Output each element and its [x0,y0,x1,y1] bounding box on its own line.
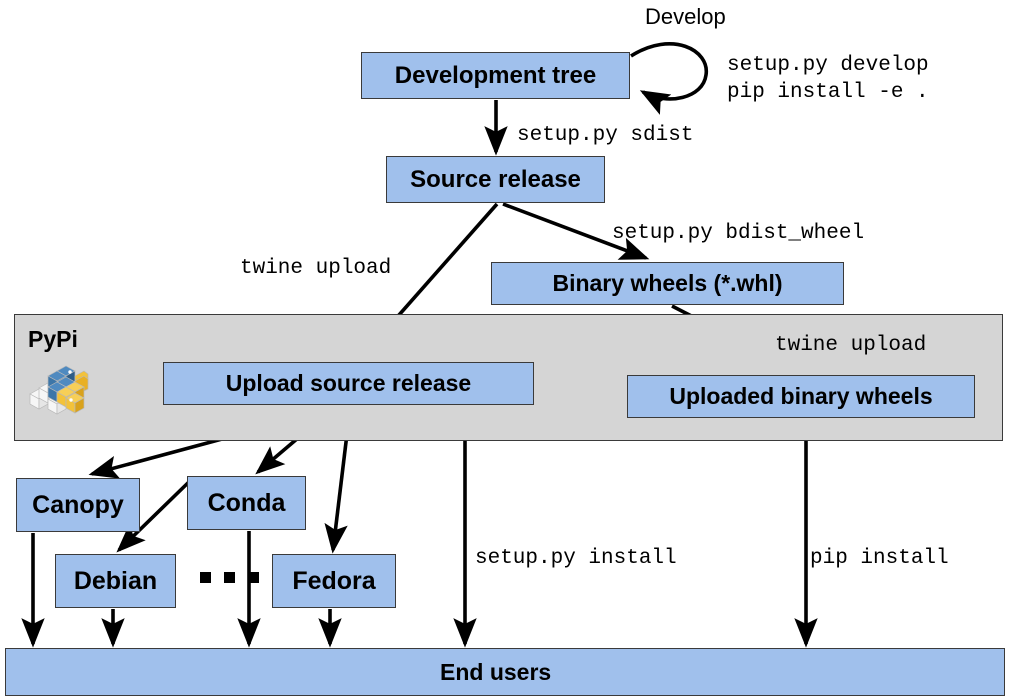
node-development-tree[interactable]: Development tree [361,52,630,99]
edge-label-setup-py-install: setup.py install [475,546,677,573]
node-end-users[interactable]: End users [5,648,1005,696]
edge-label-develop-commands: setup.py develop pip install -e . [727,53,929,107]
edge-label-setup-py-bdist-wheel: setup.py bdist_wheel [612,221,864,248]
edge-label-setup-py-sdist: setup.py sdist [517,123,693,150]
node-label: Fedora [292,567,375,596]
diagram-canvas: PyPi [0,0,1009,698]
edge-label-develop: Develop [645,4,726,30]
node-label: Conda [208,489,286,518]
node-uploaded-binary-wheels[interactable]: Uploaded binary wheels [627,375,975,418]
edge-label-twine-upload-source: twine upload [240,256,391,283]
ellipsis-dot [248,572,259,583]
node-debian[interactable]: Debian [55,554,176,608]
node-label: Development tree [395,62,596,90]
pypi-panel-title: PyPi [28,326,78,353]
node-fedora[interactable]: Fedora [272,554,396,608]
edge-label-pip-install: pip install [810,546,949,573]
node-label: Debian [74,567,157,596]
pypi-python-logo [28,358,90,421]
node-conda[interactable]: Conda [187,476,306,530]
edge-label-twine-upload-wheels: twine upload [775,333,926,360]
ellipsis-dot [224,572,235,583]
ellipsis-dots [200,572,259,583]
node-label: Binary wheels (*.whl) [552,270,782,297]
ellipsis-dot [200,572,211,583]
node-label: Canopy [32,491,124,520]
node-binary-wheels[interactable]: Binary wheels (*.whl) [491,262,844,305]
edge-develop-self-loop [631,44,706,99]
node-label: Source release [410,166,581,194]
node-label: Uploaded binary wheels [669,383,932,410]
node-source-release[interactable]: Source release [386,156,605,203]
node-label: Upload source release [226,370,471,397]
node-upload-source-release[interactable]: Upload source release [163,362,534,405]
node-canopy[interactable]: Canopy [16,478,140,532]
node-label: End users [440,659,551,686]
